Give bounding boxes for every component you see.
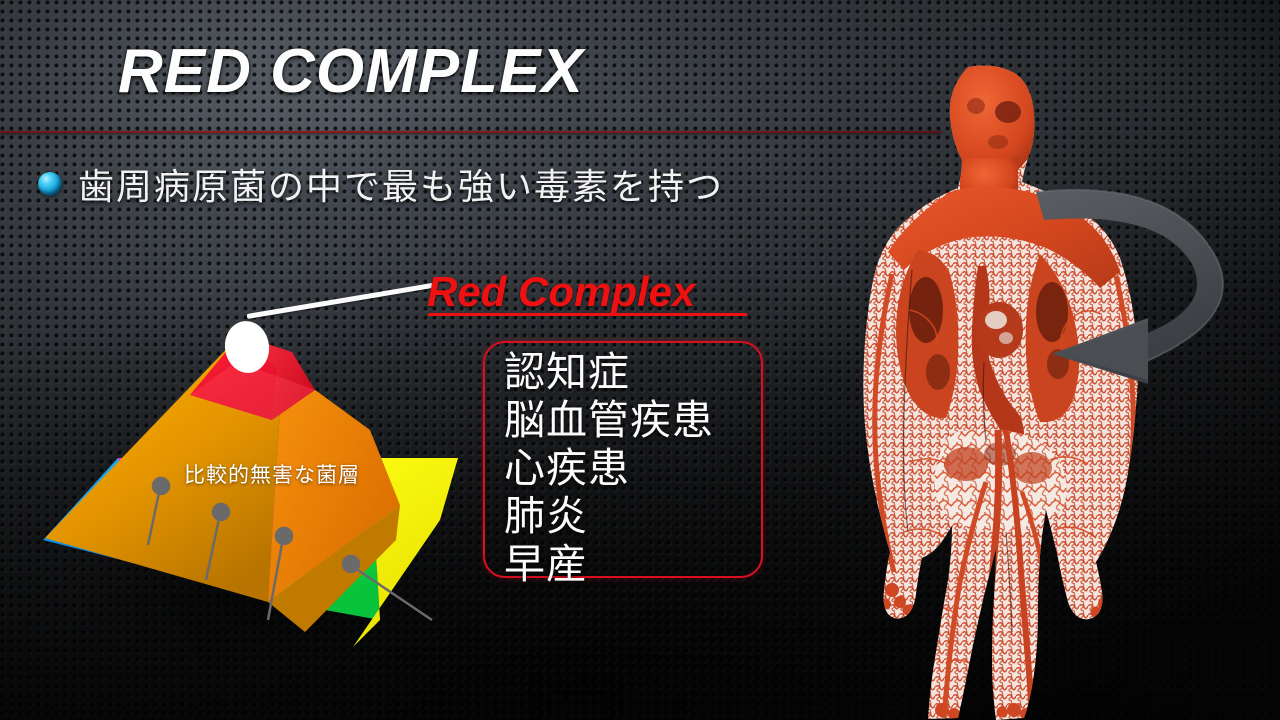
list-item: 早産 bbox=[504, 540, 754, 588]
blue-sphere-bullet-icon bbox=[38, 172, 62, 196]
list-item: 肺炎 bbox=[504, 492, 754, 540]
disease-list: 認知症 脳血管疾患 心疾患 肺炎 早産 bbox=[504, 348, 754, 588]
red-complex-underline bbox=[428, 313, 747, 316]
red-complex-label: Red Complex bbox=[427, 268, 695, 316]
list-item: 脳血管疾患 bbox=[504, 396, 754, 444]
pyramid-caption: 比較的無害な菌層 bbox=[184, 459, 360, 489]
slide-canvas: RED COMPLEX 歯周病原菌の中で最も強い毒素を持つ bbox=[0, 0, 1280, 720]
list-item: 認知症 bbox=[504, 348, 754, 396]
bullet-row: 歯周病原菌の中で最も強い毒素を持つ bbox=[38, 158, 724, 210]
bullet-text: 歯周病原菌の中で最も強い毒素を持つ bbox=[78, 158, 724, 210]
body-silhouette bbox=[800, 62, 1200, 720]
page-title: RED COMPLEX bbox=[118, 36, 584, 107]
human-vascular-system-illustration bbox=[800, 62, 1200, 720]
list-item: 心疾患 bbox=[504, 444, 754, 492]
